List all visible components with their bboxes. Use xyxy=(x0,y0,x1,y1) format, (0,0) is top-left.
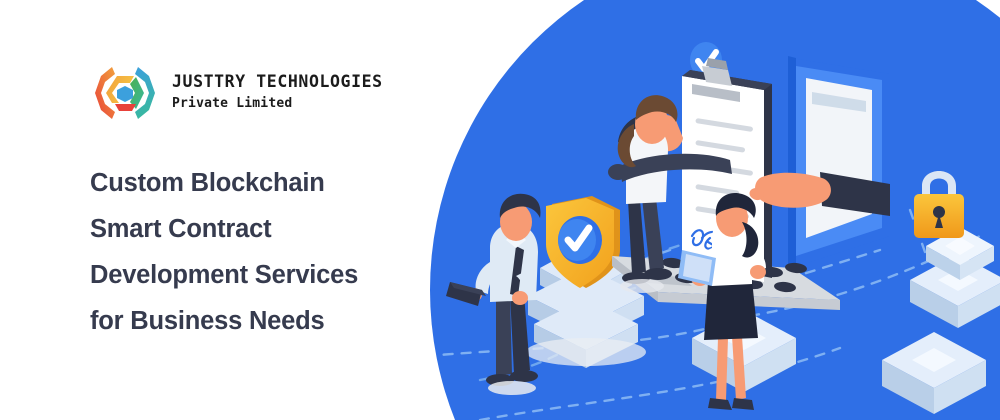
headline-line-1: Custom Blockchain xyxy=(90,160,450,206)
brand-wordmark: JUSTTRY TECHNOLOGIES Private Limited xyxy=(172,73,383,113)
hero-banner: JUSTTRY TECHNOLOGIES Private Limited Cus… xyxy=(0,0,1000,420)
hexagon-gradient-logo-icon xyxy=(92,62,158,124)
brand-subtitle: Private Limited xyxy=(172,95,383,113)
headline-line-2: Smart Contract xyxy=(90,206,450,252)
headline: Custom Blockchain Smart Contract Develop… xyxy=(90,160,450,344)
brand-logo: JUSTTRY TECHNOLOGIES Private Limited xyxy=(92,62,383,124)
brand-name: JUSTTRY TECHNOLOGIES xyxy=(172,73,383,92)
headline-line-4: for Business Needs xyxy=(90,298,450,344)
headline-line-3: Development Services xyxy=(90,252,450,298)
blockchain-smart-contract-isometric-illustration xyxy=(420,0,1000,420)
